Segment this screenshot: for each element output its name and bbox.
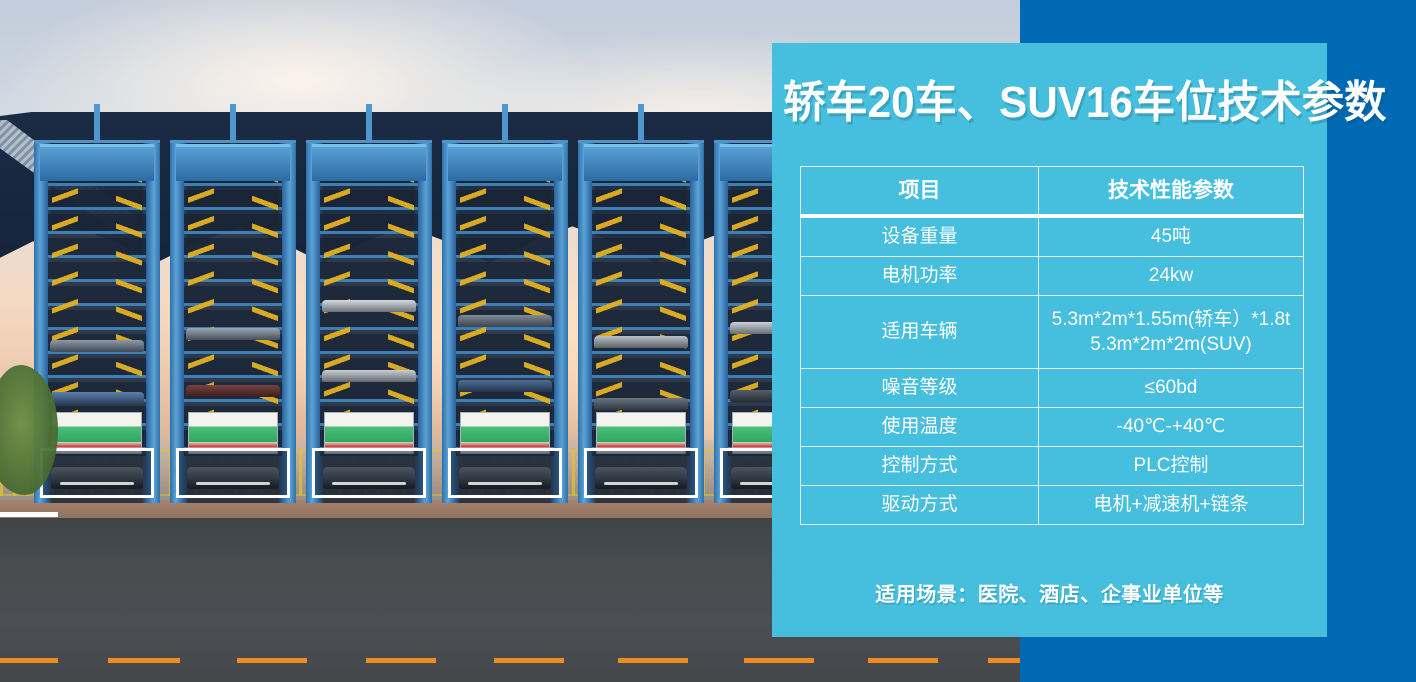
parking-tower (170, 140, 296, 500)
row-value: 45吨 (1039, 216, 1304, 257)
stored-car (186, 385, 280, 397)
row-value: PLC控制 (1039, 447, 1304, 486)
table-row: 使用温度 -40℃-+40℃ (801, 408, 1304, 447)
tower-entry-bay (312, 448, 426, 498)
road-center-dashes (0, 658, 1020, 663)
row-value: ≤60bd (1039, 369, 1304, 408)
row-value-text: 5.3m*2m*1.55m(轿车）*1.8t 5.3m*2m*2m(SUV) (1039, 303, 1303, 361)
row-label: 控制方式 (801, 447, 1039, 486)
tower-brace-left (460, 170, 486, 450)
entry-vehicle (459, 467, 551, 489)
tower-head (448, 144, 562, 181)
parking-tower (578, 140, 704, 500)
row-label: 噪音等级 (801, 369, 1039, 408)
row-label: 设备重量 (801, 216, 1039, 257)
row-value: -40℃-+40℃ (1039, 408, 1304, 447)
parking-tower (442, 140, 568, 500)
table-row: 控制方式 PLC控制 (801, 447, 1304, 486)
entry-vehicle (323, 467, 415, 489)
entry-vehicle (595, 467, 687, 489)
tower-entry-bay (176, 448, 290, 498)
table-row: 设备重量 45吨 (801, 216, 1304, 257)
table-row: 噪音等级 ≤60bd (801, 369, 1304, 408)
tower-entry-bay (448, 448, 562, 498)
tower-entry-bay (584, 448, 698, 498)
tower-brace-left (188, 170, 214, 450)
stored-car (458, 315, 552, 327)
stored-car (594, 398, 688, 410)
tower-brace-left (732, 170, 758, 450)
stored-car (186, 328, 280, 340)
tower-entry-bay (40, 448, 154, 498)
row-label: 驱动方式 (801, 486, 1039, 525)
spec-card: 轿车20车、SUV16车位技术参数 项目 技术性能参数 设备重量 45吨 电机功… (772, 43, 1327, 637)
row-value: 5.3m*2m*1.55m(轿车）*1.8t 5.3m*2m*2m(SUV) (1039, 296, 1304, 369)
stored-car (50, 392, 144, 404)
screenshot-root: 轿车20车、SUV16车位技术参数 项目 技术性能参数 设备重量 45吨 电机功… (0, 0, 1416, 682)
row-value: 电机+减速机+链条 (1039, 486, 1304, 525)
tower-head (176, 144, 290, 181)
table-row: 驱动方式 电机+减速机+链条 (801, 486, 1304, 525)
parking-tower (306, 140, 432, 500)
entry-vehicle (187, 467, 279, 489)
entry-vehicle (51, 467, 143, 489)
stored-car (50, 340, 144, 352)
stored-car (322, 300, 416, 312)
row-value: 24kw (1039, 257, 1304, 296)
row-label: 使用温度 (801, 408, 1039, 447)
stored-car (594, 336, 688, 348)
tower-head (40, 144, 154, 181)
table-row: 适用车辆 5.3m*2m*1.55m(轿车）*1.8t 5.3m*2m*2m(S… (801, 296, 1304, 369)
column-header-value: 技术性能参数 (1039, 167, 1304, 217)
tower-head (584, 144, 698, 181)
tower-brace-right (116, 170, 142, 450)
page-title: 轿车20车、SUV16车位技术参数 (783, 81, 1316, 125)
stored-car (322, 370, 416, 382)
tower-brace-right (252, 170, 278, 450)
stored-car (458, 380, 552, 392)
tower-head (312, 144, 426, 181)
spec-table: 项目 技术性能参数 设备重量 45吨 电机功率 24kw 适用车辆 5.3m*2… (800, 166, 1304, 525)
table-row: 电机功率 24kw (801, 257, 1304, 296)
applicable-scenarios-note: 适用场景：医院、酒店、企事业单位等 (772, 578, 1327, 607)
tower-brace-right (524, 170, 550, 450)
row-label: 适用车辆 (801, 296, 1039, 369)
row-label: 电机功率 (801, 257, 1039, 296)
table-header-row: 项目 技术性能参数 (801, 167, 1304, 217)
column-header-item: 项目 (801, 167, 1039, 217)
